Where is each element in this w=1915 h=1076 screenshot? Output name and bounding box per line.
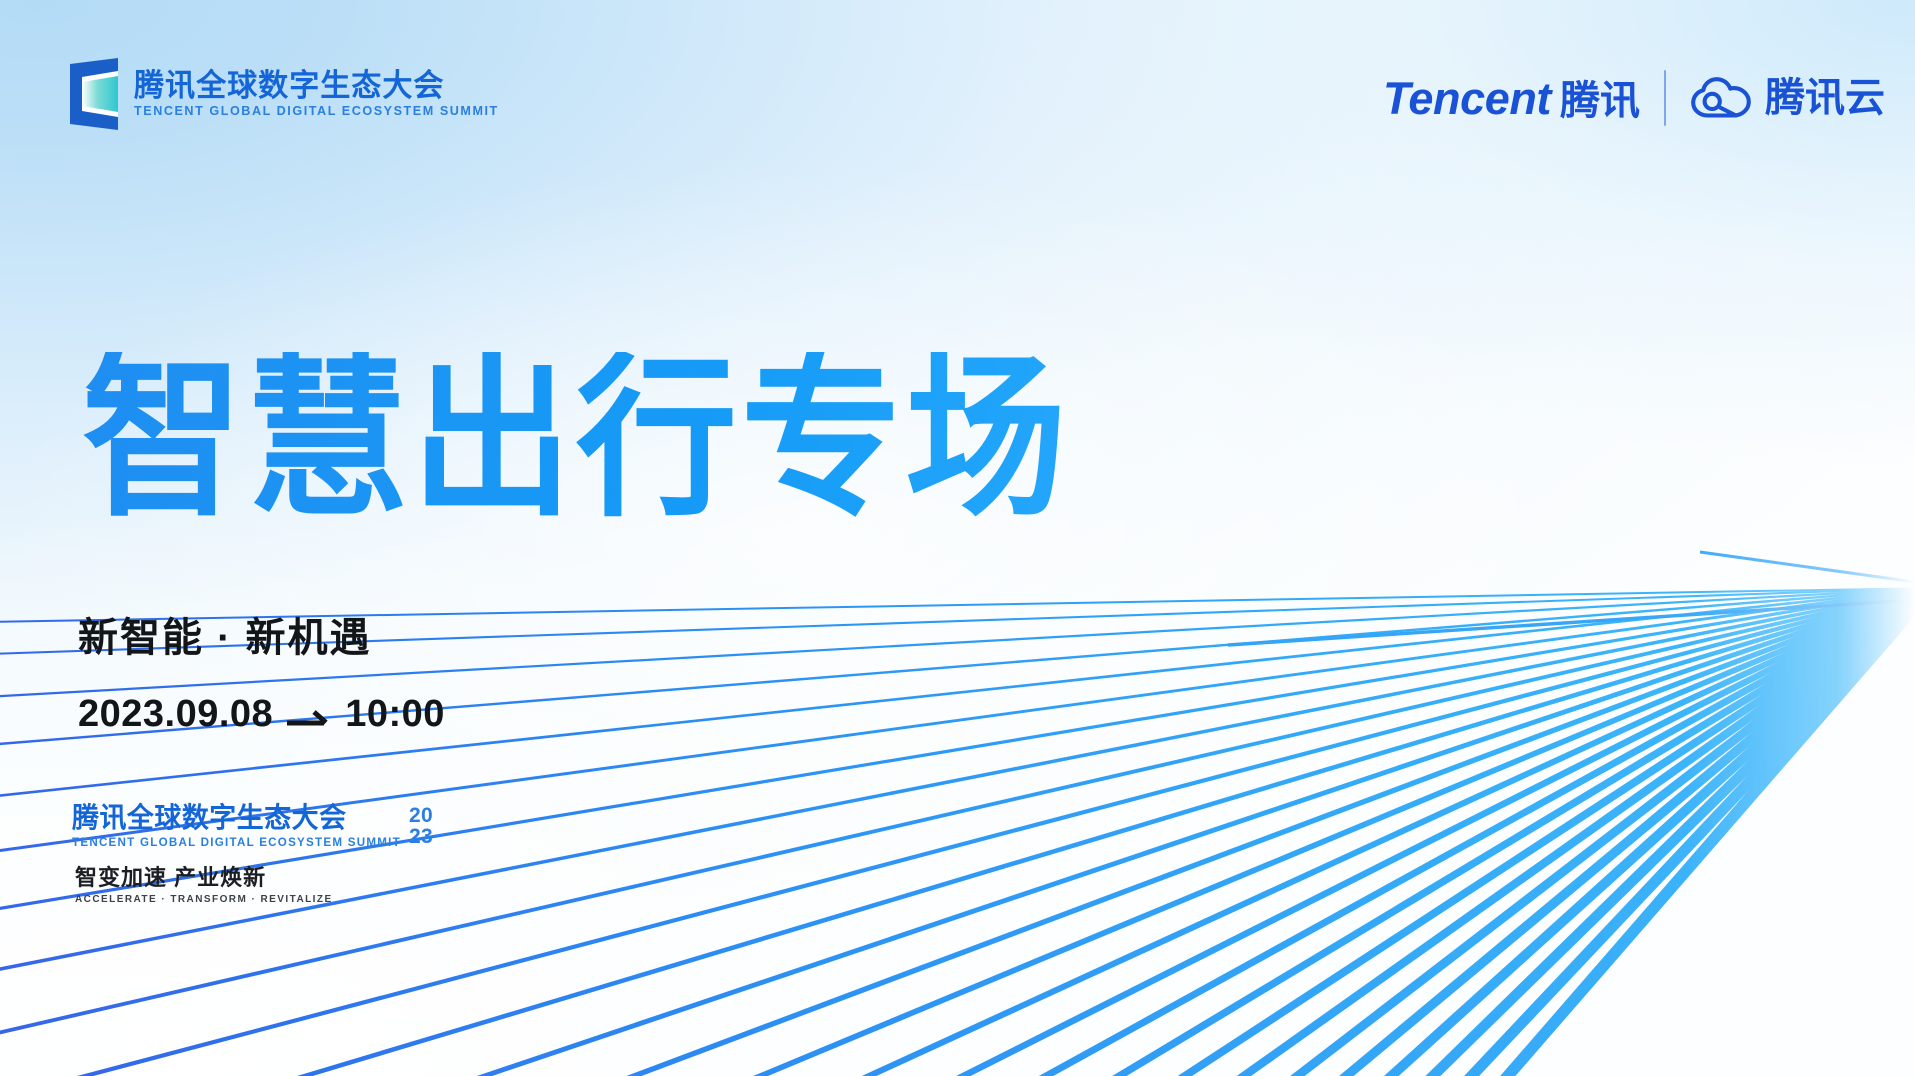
tencent-cloud-label: 腾讯云 xyxy=(1765,78,1885,118)
event-date: 2023.09.08 xyxy=(78,692,273,738)
page-title: 智慧出行专场 xyxy=(82,352,1070,527)
summit-logo-header[interactable]: 腾讯全球数字生态大会 TENCENT GLOBAL DIGITAL ECOSYS… xyxy=(68,58,499,130)
tencent-wordmark-latin: Tencent xyxy=(1383,76,1551,121)
tencent-cloud-icon xyxy=(1690,77,1752,119)
tencent-logo[interactable]: Tencent 腾讯 xyxy=(1383,76,1640,121)
summit-year: 20 23 xyxy=(409,805,433,848)
footer-logo-text: 腾讯全球数字生态大会 TENCENT GLOBAL DIGITAL ECOSYS… xyxy=(72,804,401,850)
footer-logo-row: 腾讯全球数字生态大会 TENCENT GLOBAL DIGITAL ECOSYS… xyxy=(72,804,433,850)
hero-subtitle: 新智能 · 新机遇 xyxy=(78,614,372,662)
poster-canvas: 腾讯全球数字生态大会 TENCENT GLOBAL DIGITAL ECOSYS… xyxy=(0,0,1915,1076)
footer-title-en: TENCENT GLOBAL DIGITAL ECOSYSTEM SUMMIT xyxy=(72,837,401,850)
arrow-right-icon xyxy=(286,707,332,729)
summit-year-top: 20 xyxy=(409,805,433,826)
tencent-wordmark-cn: 腾讯 xyxy=(1560,81,1640,121)
summit-bracket-mark-icon xyxy=(68,58,120,130)
brand-divider xyxy=(1664,70,1666,126)
summit-logo-footer[interactable]: 腾讯全球数字生态大会 TENCENT GLOBAL DIGITAL ECOSYS… xyxy=(72,804,433,905)
radiating-line-fan xyxy=(0,0,1915,1076)
footer-title-cn: 腾讯全球数字生态大会 xyxy=(72,804,388,832)
event-time: 10:00 xyxy=(345,692,445,738)
summit-slogan-cn: 智变加速 产业焕新 xyxy=(75,866,433,890)
summit-year-bottom: 23 xyxy=(409,826,433,847)
brand-bar: Tencent 腾讯 腾讯云 xyxy=(1383,70,1885,126)
fan-accent-line xyxy=(1700,552,1915,582)
summit-title-cn: 腾讯全球数字生态大会 xyxy=(134,70,488,101)
summit-slogan-en: ACCELERATE · TRANSFORM · REVITALIZE xyxy=(75,894,433,905)
summit-logo-text: 腾讯全球数字生态大会 TENCENT GLOBAL DIGITAL ECOSYS… xyxy=(134,70,499,119)
hero-datetime: 2023.09.08 10:00 xyxy=(78,692,445,738)
summit-title-en: TENCENT GLOBAL DIGITAL ECOSYSTEM SUMMIT xyxy=(134,105,499,119)
tencent-cloud-logo[interactable]: 腾讯云 xyxy=(1690,77,1885,119)
